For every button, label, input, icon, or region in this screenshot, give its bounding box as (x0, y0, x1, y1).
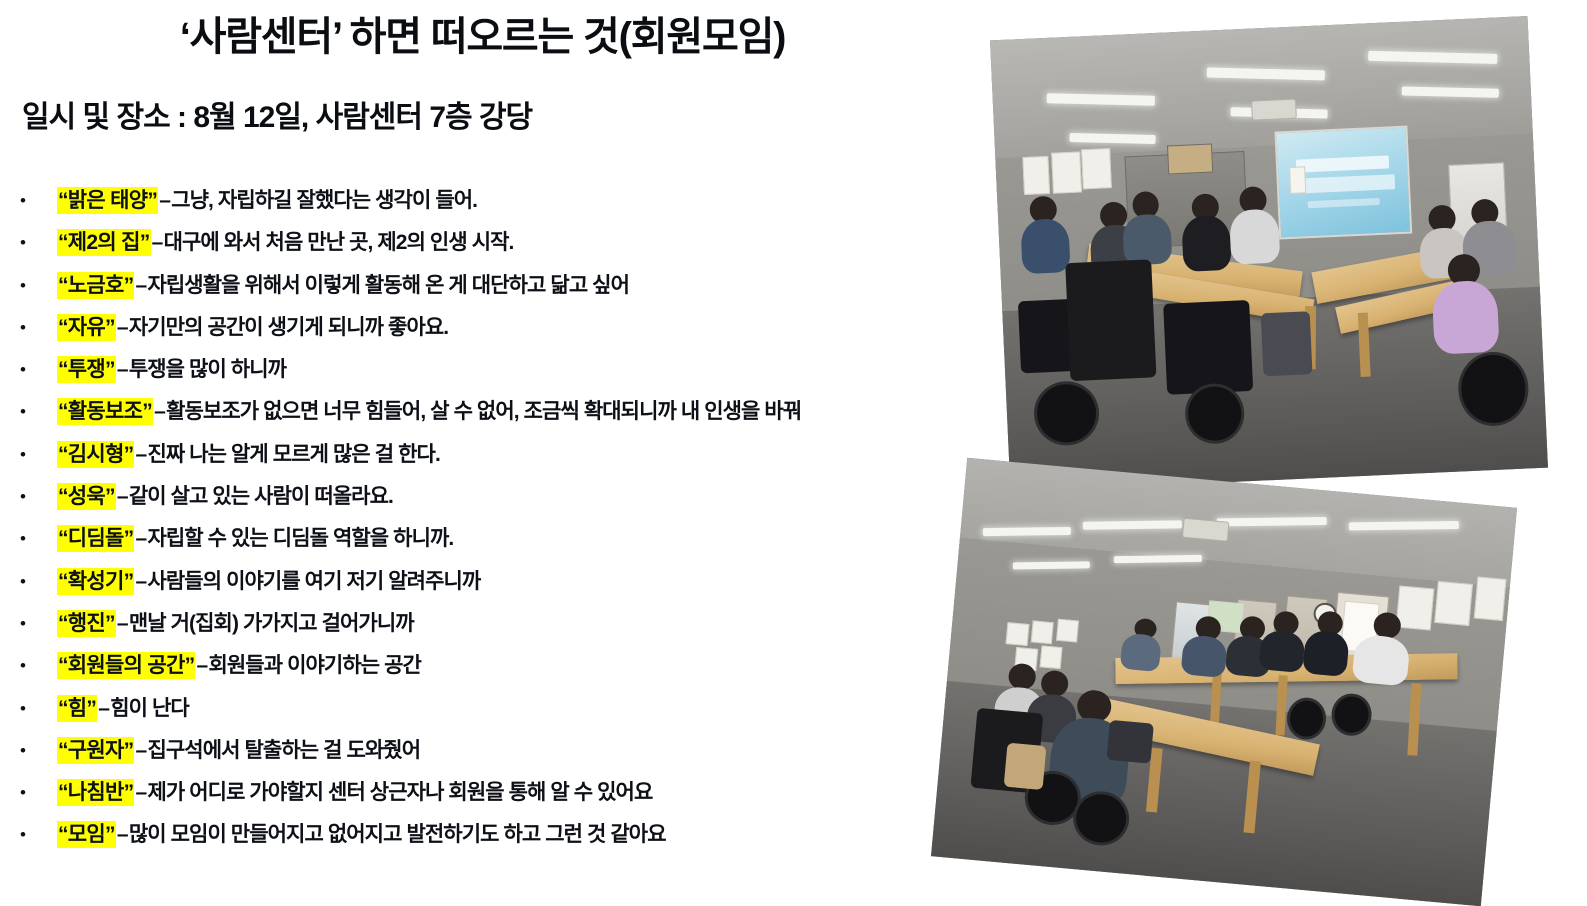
bullet-marker-icon: • (20, 391, 30, 433)
bullet-dash: – (116, 612, 129, 635)
bullet-row: •“디딤돌”–자립할 수 있는 디딤돌 역할을 하니까. (0, 518, 950, 560)
bullet-description: 그냥, 자립하길 잘했다는 생각이 들어. (171, 189, 477, 212)
bullet-keyword-highlight: “회원들의 공간” (57, 652, 195, 679)
bullet-text: “김시형”–진짜 나는 알게 모르게 많은 걸 한다. (57, 434, 440, 476)
bullet-keyword-highlight: “활동보조” (57, 398, 153, 425)
bullet-description: 활동보조가 없으면 너무 힘들어, 살 수 없어, 조금씩 확대되니까 내 인생… (166, 400, 801, 423)
bullet-text: “나침반”–제가 어디로 가야할지 센터 상근자나 회원을 통해 알 수 있어요 (57, 772, 652, 814)
bullet-description: 회원들과 이야기하는 공간 (208, 654, 421, 677)
bullet-dash: – (134, 527, 147, 550)
bullet-dash: – (97, 697, 110, 720)
bullet-description: 제가 어디로 가야할지 센터 상근자나 회원을 통해 알 수 있어요 (147, 781, 652, 804)
bullet-description: 힘이 난다 (110, 697, 189, 720)
bullet-marker-icon: • (20, 730, 30, 772)
bullet-row: •“회원들의 공간”–회원들과 이야기하는 공간 (0, 645, 950, 687)
bullet-keyword-highlight: “김시형” (57, 441, 134, 468)
bullet-dash: – (116, 358, 129, 381)
bullet-text: “활동보조”–활동보조가 없으면 너무 힘들어, 살 수 없어, 조금씩 확대되… (57, 391, 801, 433)
bullet-description: 자립생활을 위해서 이렇게 활동해 온 게 대단하고 닮고 싶어 (147, 274, 629, 297)
bullet-description: 많이 모임이 만들어지고 없어지고 발전하기도 하고 그런 것 같아요 (129, 823, 666, 846)
bullet-dash: – (134, 781, 147, 804)
bullet-row: •“성욱”–같이 살고 있는 사람이 떠올라요. (0, 476, 950, 518)
bullet-marker-icon: • (20, 772, 30, 814)
bullet-description: 맨날 거(집회) 가가지고 걸어가니까 (129, 612, 414, 635)
bullet-row: •“구원자”–집구석에서 탈출하는 걸 도와줬어 (0, 730, 950, 772)
bullet-text: “밝은 태양”–그냥, 자립하길 잘했다는 생각이 들어. (57, 180, 477, 222)
photo-meeting-room-with-projection-screen (990, 16, 1548, 492)
bullet-text: “디딤돌”–자립할 수 있는 디딤돌 역할을 하니까. (57, 518, 453, 560)
bullet-row: •“김시형”–진짜 나는 알게 모르게 많은 걸 한다. (0, 434, 950, 476)
bullet-dash: – (134, 443, 147, 466)
bullet-description: 자립할 수 있는 디딤돌 역할을 하니까. (147, 527, 453, 550)
bullet-marker-icon: • (20, 180, 30, 222)
bullet-keyword-highlight: “힘” (57, 695, 97, 722)
bullet-row: •“제2의 집”–대구에 와서 처음 만난 곳, 제2의 인생 시작. (0, 222, 950, 264)
bullet-description: 집구석에서 탈출하는 걸 도와줬어 (147, 739, 420, 762)
bullet-keyword-highlight: “성욱” (57, 483, 116, 510)
bullet-row: •“투쟁”–투쟁을 많이 하니까 (0, 349, 950, 391)
bullet-keyword-highlight: “자유” (57, 314, 116, 341)
bullet-marker-icon: • (20, 349, 30, 391)
bullet-marker-icon: • (20, 603, 30, 645)
bullet-marker-icon: • (20, 265, 30, 307)
bullet-dash: – (134, 274, 147, 297)
bullet-keyword-highlight: “나침반” (57, 779, 134, 806)
page-title: ‘사람센터’ 하면 떠오르는 것(회원모임) (0, 4, 965, 62)
bullet-keyword-highlight: “확성기” (57, 568, 134, 595)
bullet-text: “투쟁”–투쟁을 많이 하니까 (57, 349, 286, 391)
bullet-keyword-highlight: “디딤돌” (57, 525, 134, 552)
photo-meeting-room-wide-view (931, 458, 1517, 906)
bullet-marker-icon: • (20, 434, 30, 476)
bullet-description: 대구에 와서 처음 만난 곳, 제2의 인생 시작. (164, 231, 514, 254)
bullet-row: •“나침반”–제가 어디로 가야할지 센터 상근자나 회원을 통해 알 수 있어… (0, 772, 950, 814)
bullet-text: “제2의 집”–대구에 와서 처음 만난 곳, 제2의 인생 시작. (57, 222, 513, 264)
bullet-dash: – (134, 739, 147, 762)
bullet-dash: – (134, 570, 147, 593)
keyword-bullet-list: •“밝은 태양”–그냥, 자립하길 잘했다는 생각이 들어.•“제2의 집”–대… (0, 180, 950, 857)
bullet-text: “확성기”–사람들의 이야기를 여기 저기 알려주니까 (57, 561, 480, 603)
bullet-dash: – (195, 654, 208, 677)
bullet-marker-icon: • (20, 518, 30, 560)
bullet-description: 자기만의 공간이 생기게 되니까 좋아요. (129, 316, 448, 339)
bullet-description: 투쟁을 많이 하니까 (129, 358, 286, 381)
bullet-dash: – (116, 823, 129, 846)
bullet-keyword-highlight: “구원자” (57, 737, 134, 764)
bullet-marker-icon: • (20, 476, 30, 518)
bullet-description: 진짜 나는 알게 모르게 많은 걸 한다. (147, 443, 439, 466)
bullet-dash: – (158, 189, 171, 212)
bullet-row: •“모임”–많이 모임이 만들어지고 없어지고 발전하기도 하고 그런 것 같아… (0, 814, 950, 856)
bullet-keyword-highlight: “노금호” (57, 272, 134, 299)
bullet-text: “모임”–많이 모임이 만들어지고 없어지고 발전하기도 하고 그런 것 같아요 (57, 814, 666, 856)
bullet-text: “자유”–자기만의 공간이 생기게 되니까 좋아요. (57, 307, 448, 349)
bullet-keyword-highlight: “밝은 태양” (57, 187, 158, 214)
bullet-text: “행진”–맨날 거(집회) 가가지고 걸어가니까 (57, 603, 414, 645)
bullet-keyword-highlight: “제2의 집” (57, 229, 151, 256)
bullet-dash: – (116, 316, 129, 339)
bullet-marker-icon: • (20, 307, 30, 349)
bullet-text: “노금호”–자립생활을 위해서 이렇게 활동해 온 게 대단하고 닮고 싶어 (57, 265, 629, 307)
bullet-row: •“활동보조”–활동보조가 없으면 너무 힘들어, 살 수 없어, 조금씩 확대… (0, 391, 950, 433)
bullet-keyword-highlight: “행진” (57, 610, 116, 637)
bullet-marker-icon: • (20, 561, 30, 603)
bullet-marker-icon: • (20, 688, 30, 730)
bullet-row: •“자유”–자기만의 공간이 생기게 되니까 좋아요. (0, 307, 950, 349)
bullet-row: •“밝은 태양”–그냥, 자립하길 잘했다는 생각이 들어. (0, 180, 950, 222)
bullet-dash: – (116, 485, 129, 508)
subtitle-date-and-place: 일시 및 장소 : 8월 12일, 사람센터 7층 강당 (22, 92, 532, 136)
bullet-row: •“힘”–힘이 난다 (0, 688, 950, 730)
bullet-row: •“노금호”–자립생활을 위해서 이렇게 활동해 온 게 대단하고 닮고 싶어 (0, 265, 950, 307)
bullet-dash: – (153, 400, 166, 423)
bullet-dash: – (151, 231, 164, 254)
bullet-marker-icon: • (20, 645, 30, 687)
bullet-marker-icon: • (20, 814, 30, 856)
bullet-text: “힘”–힘이 난다 (57, 688, 189, 730)
bullet-row: •“확성기”–사람들의 이야기를 여기 저기 알려주니까 (0, 561, 950, 603)
bullet-description: 사람들의 이야기를 여기 저기 알려주니까 (147, 570, 480, 593)
bullet-row: •“행진”–맨날 거(집회) 가가지고 걸어가니까 (0, 603, 950, 645)
bullet-keyword-highlight: “모임” (57, 821, 116, 848)
bullet-keyword-highlight: “투쟁” (57, 356, 116, 383)
bullet-text: “회원들의 공간”–회원들과 이야기하는 공간 (57, 645, 421, 687)
bullet-description: 같이 살고 있는 사람이 떠올라요. (129, 485, 393, 508)
bullet-text: “성욱”–같이 살고 있는 사람이 떠올라요. (57, 476, 393, 518)
bullet-text: “구원자”–집구석에서 탈출하는 걸 도와줬어 (57, 730, 420, 772)
bullet-marker-icon: • (20, 222, 30, 264)
